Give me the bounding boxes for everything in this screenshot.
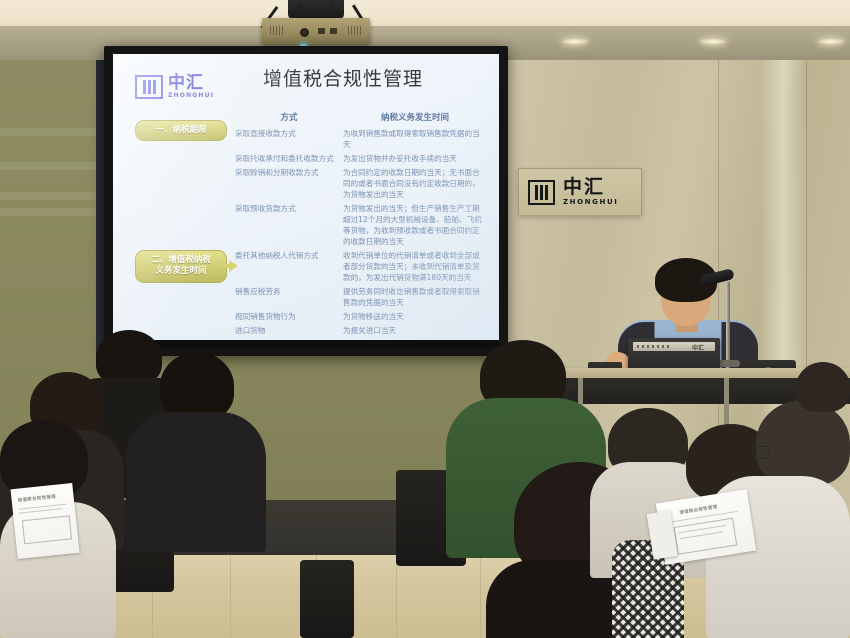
logo-bar-3 (153, 80, 156, 94)
plaque-logo-mark (528, 180, 555, 205)
handout-left-title: 增值税合规性管理 (17, 494, 56, 504)
projector-port-1 (318, 28, 325, 34)
screen-bottom-bar (113, 340, 499, 348)
logo-bar-1 (143, 80, 146, 94)
table-row: 采取预收货款方式 为货物发出的当天；但生产销售生产工期超过12个月的大型机械设备… (235, 203, 487, 247)
row-time: 收到代销单位的代销清单或者收到全部或者部分货款的当天；未收到代销清单及货款的，为… (343, 250, 487, 283)
row-time: 为发出货物并办妥托收手续的当天 (343, 153, 487, 164)
row-time: 为合同约定的收款日期的当天；无书面合同的或者书面合同没有约定收款日期的，为货物发… (343, 167, 487, 200)
handout-right-box (674, 518, 738, 555)
chair-3 (300, 560, 354, 638)
row-method: 采取赊销和分期收款方式 (235, 167, 343, 200)
downlight-2 (700, 38, 726, 45)
row-time: 提供劳务同时收讫销售款或者取得索取销售款的凭据的当天 (343, 286, 487, 308)
table-row: 销售应税劳务 提供劳务同时收讫销售款或者取得索取销售款的凭据的当天 (235, 286, 487, 308)
plaque-text: 中汇 ZHONGHUI (563, 178, 618, 206)
table-row: 委托其他纳税人代销方式 收到代销单位的代销清单或者收到全部或者部分货款的当天；未… (235, 250, 487, 283)
seminar-photo-scene: 中汇 ZHONGHUI 增值税合规性管理 一、纳税期限 二、增值税纳税 义务发生… (0, 0, 850, 638)
plaque-chinese: 中汇 (563, 178, 618, 197)
row-time: 为货物发出的当天；但生产销售生产工期超过12个月的大型机械设备、船舶、飞机等货物… (343, 203, 487, 247)
table-row: 采取直接收款方式 为收到销售款或取得索取销售款凭据的当天 (235, 128, 487, 150)
row-method: 采取预收货款方式 (235, 203, 343, 247)
projector-lens (300, 28, 309, 37)
slide-table: 方式 纳税义务发生时间 采取直接收款方式 为收到销售款或取得索取销售款凭据的当天… (235, 111, 487, 339)
projector-body (262, 18, 370, 44)
projector-port-2 (330, 28, 337, 34)
row-method: 销售应税劳务 (235, 286, 343, 308)
screen-surface: 中汇 ZHONGHUI 增值税合规性管理 一、纳税期限 二、增值税纳税 义务发生… (113, 54, 499, 344)
row-time: 为收到销售款或取得索取销售款凭据的当天 (343, 128, 487, 150)
table-header-method: 方式 (235, 111, 343, 123)
microphone-stem (726, 282, 730, 368)
audience-head-3 (160, 352, 234, 420)
handout-left: 增值税合规性管理 (11, 483, 80, 559)
downlight-1 (562, 38, 588, 45)
plaque-bar-2 (540, 185, 543, 200)
row-time: 为报关进口当天 (343, 325, 487, 336)
wall-logo-plaque: 中汇 ZHONGHUI (518, 168, 642, 216)
table-header-time: 纳税义务发生时间 (343, 111, 487, 123)
row-method: 视同销售货物行为 (235, 311, 343, 322)
row-method: 采取直接收款方式 (235, 128, 343, 150)
audience-head-10 (796, 362, 850, 412)
zhonghui-logo: 中汇 ZHONGHUI (135, 75, 214, 99)
projector-vent-left (270, 26, 284, 35)
slide-table-header: 方式 纳税义务发生时间 (235, 111, 487, 123)
table-row: 进口货物 为报关进口当天 (235, 325, 487, 336)
audience-head-9 (756, 400, 850, 486)
row-method: 采取托收承付和委托收款方式 (235, 153, 343, 164)
row-method: 进口货物 (235, 325, 343, 336)
logo-chinese: 中汇 (168, 75, 214, 92)
projector-vent-right (348, 26, 362, 35)
laptop-brand-glyph: 中汇 (692, 343, 704, 352)
audience-body-3 (126, 412, 266, 552)
zhonghui-logo-mark (135, 75, 163, 99)
laptop-label-text (637, 345, 671, 348)
slide-section-chip-1: 一、纳税期限 (135, 120, 227, 141)
downlight-3 (818, 38, 844, 45)
zhonghui-logo-text: 中汇 ZHONGHUI (168, 75, 214, 99)
handout-left-box (22, 515, 72, 544)
logo-bar-2 (148, 80, 151, 94)
table-leg-2 (724, 378, 729, 424)
plaque-english: ZHONGHUI (563, 199, 618, 206)
floor-tile-6 (396, 555, 481, 638)
glasses-icon (752, 446, 770, 459)
logo-english: ZHONGHUI (168, 93, 214, 99)
projection-screen: 中汇 ZHONGHUI 增值税合规性管理 一、纳税期限 二、增值税纳税 义务发生… (104, 46, 508, 356)
row-time: 为货物移送的当天 (343, 311, 487, 322)
table-row: 采取赊销和分期收款方式 为合同约定的收款日期的当天；无书面合同的或者书面合同没有… (235, 167, 487, 200)
slide-title: 增值税合规性管理 (263, 68, 478, 92)
row-method: 委托其他纳税人代销方式 (235, 250, 343, 283)
table-row: 视同销售货物行为 为货物移送的当天 (235, 311, 487, 322)
plaque-bar-1 (535, 185, 538, 200)
table-row: 采取托收承付和委托收款方式 为发出货物并办妥托收手续的当天 (235, 153, 487, 164)
plaque-bar-3 (545, 185, 548, 200)
slide: 中汇 ZHONGHUI 增值税合规性管理 一、纳税期限 二、增值税纳税 义务发生… (113, 54, 499, 344)
slide-section-chip-2: 二、增值税纳税 义务发生时间 (135, 250, 227, 283)
